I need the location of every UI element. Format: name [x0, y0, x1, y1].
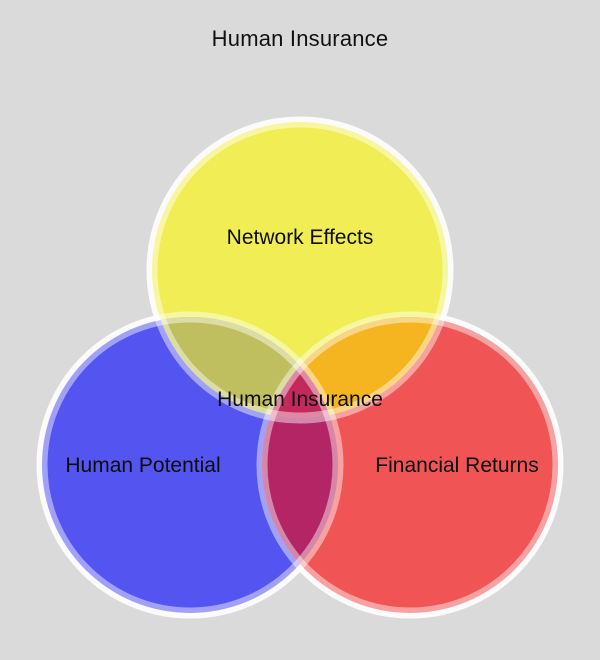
venn-canvas [0, 0, 600, 660]
venn-diagram: Human Insurance [0, 0, 600, 660]
